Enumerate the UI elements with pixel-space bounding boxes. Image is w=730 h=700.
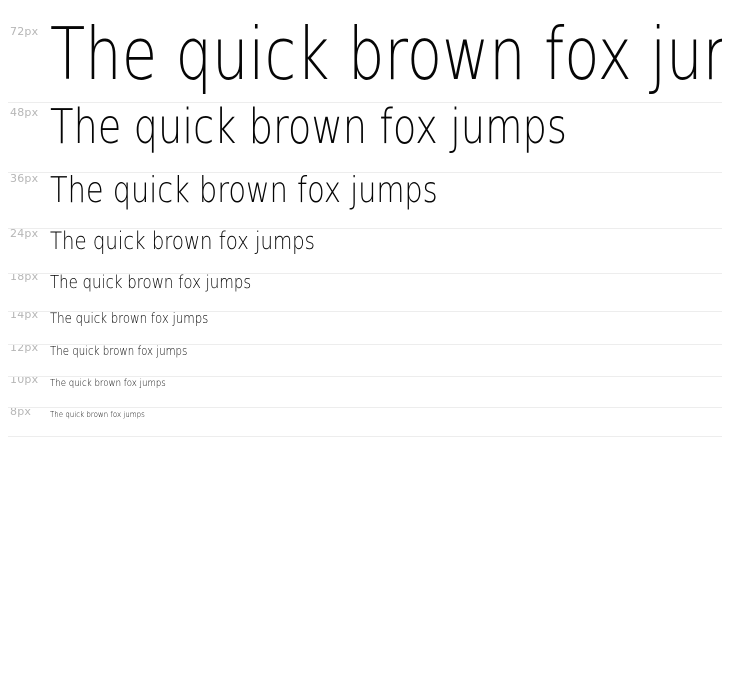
sample-text-72px: The quick brown fox jumps [50,18,722,91]
sample-text-18px-value: The quick brown fox jumps [50,274,251,292]
specimen-row-72px: 72px The quick brown fox jumps [8,18,722,103]
specimen-row-24px: 24px The quick brown fox jumps [8,229,722,274]
sample-text-48px-value: The quick brown fox jumps [50,103,567,152]
specimen-row-36px: 36px The quick brown fox jumps [8,173,722,229]
sample-text-48px: The quick brown fox jumps [50,103,588,152]
font-specimen-list: 72px The quick brown fox jumps 48px The … [0,0,730,437]
size-label-8px: 8px [8,408,50,417]
specimen-row-12px: 12px The quick brown fox jumps [8,345,722,377]
sample-text-8px: The quick brown fox jumps [50,411,641,419]
sample-text-12px-value: The quick brown fox jumps [50,345,187,357]
size-label-14px: 14px [8,312,50,320]
sample-text-24px: The quick brown fox jumps [50,229,601,253]
size-label-10px: 10px [8,377,50,385]
specimen-row-18px: 18px The quick brown fox jumps [8,274,722,312]
size-label-12px: 12px [8,345,50,353]
size-label-36px: 36px [8,173,50,184]
sample-text-14px-value: The quick brown fox jumps [50,312,208,326]
size-label-18px: 18px [8,274,50,282]
specimen-row-10px: 10px The quick brown fox jumps [8,377,722,408]
sample-text-14px: The quick brown fox jumps [50,312,614,326]
sample-text-72px-value: The quick brown fox jumps [50,18,722,91]
sample-text-24px-value: The quick brown fox jumps [50,229,315,253]
sample-text-10px-value: The quick brown fox jumps [50,379,166,389]
specimen-row-8px: 8px The quick brown fox jumps [8,408,722,437]
size-label-24px: 24px [8,229,50,239]
size-label-72px: 72px [8,26,50,37]
specimen-row-48px: 48px The quick brown fox jumps [8,103,722,173]
sample-text-18px: The quick brown fox jumps [50,274,608,292]
sample-text-10px: The quick brown fox jumps [50,379,628,389]
sample-text-36px: The quick brown fox jumps [50,173,588,210]
sample-text-8px-value: The quick brown fox jumps [50,411,145,419]
specimen-row-14px: 14px The quick brown fox jumps [8,312,722,345]
size-label-48px: 48px [8,107,50,118]
sample-text-12px: The quick brown fox jumps [50,345,621,357]
sample-text-36px-value: The quick brown fox jumps [50,173,438,210]
